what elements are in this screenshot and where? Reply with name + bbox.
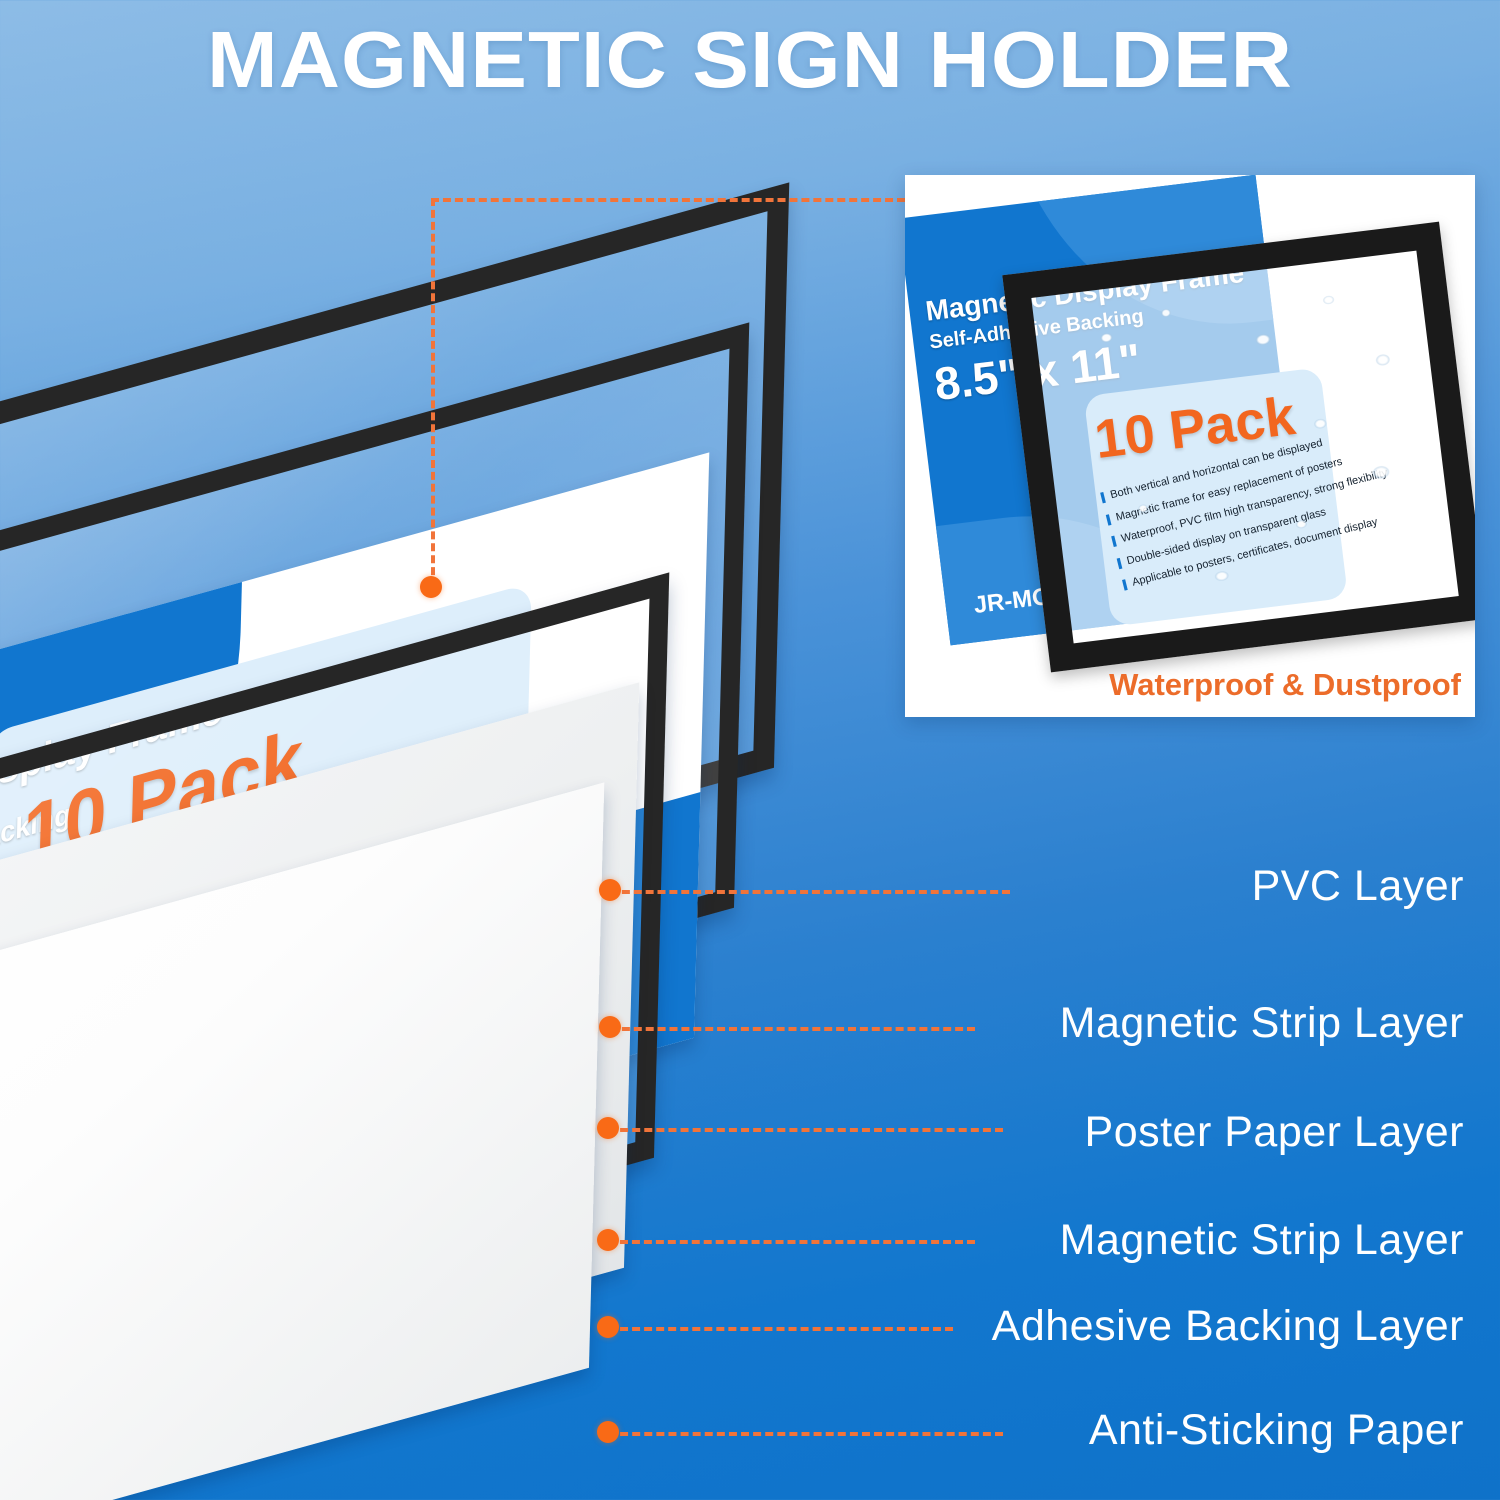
- layer-label-magnetic-1: Magnetic Strip Layer: [1060, 999, 1464, 1048]
- layer-label-release: Anti-Sticking Paper: [1089, 1406, 1464, 1455]
- callout-dot-top: [420, 576, 442, 598]
- callout-line-top-vertical: [431, 198, 435, 587]
- leader-line-magnetic-1: [610, 1027, 975, 1031]
- page-title: MAGNETIC SIGN HOLDER: [0, 14, 1500, 106]
- leader-dot-adhesive: [597, 1316, 619, 1338]
- leader-line-poster: [608, 1128, 1003, 1132]
- leader-line-release: [608, 1432, 1003, 1436]
- layer-label-magnetic-2: Magnetic Strip Layer: [1060, 1216, 1464, 1265]
- layer-label-pvc: PVC Layer: [1252, 862, 1464, 911]
- product-photo-inset: Magnetic Display Frame Self-Adhesive Bac…: [905, 175, 1475, 717]
- leader-dot-magnetic-2: [597, 1229, 619, 1251]
- callout-line-top-horizontal: [431, 198, 905, 202]
- layer-label-adhesive: Adhesive Backing Layer: [992, 1302, 1464, 1351]
- leader-line-adhesive: [608, 1327, 953, 1331]
- inset-magnetic-frame: 10 Pack Both vertical and horizontal can…: [1002, 222, 1475, 673]
- leader-dot-release: [597, 1421, 619, 1443]
- infographic-canvas: MAGNETIC SIGN HOLDER Magnetic Display Fr…: [0, 0, 1500, 1500]
- leader-line-magnetic-2: [608, 1240, 975, 1244]
- leader-dot-magnetic-1: [599, 1016, 621, 1038]
- leader-dot-pvc: [599, 879, 621, 901]
- layer-label-poster: Poster Paper Layer: [1085, 1108, 1464, 1157]
- leader-line-pvc: [610, 890, 1010, 894]
- inset-caption: Waterproof & Dustproof: [905, 667, 1461, 703]
- leader-dot-poster: [597, 1117, 619, 1139]
